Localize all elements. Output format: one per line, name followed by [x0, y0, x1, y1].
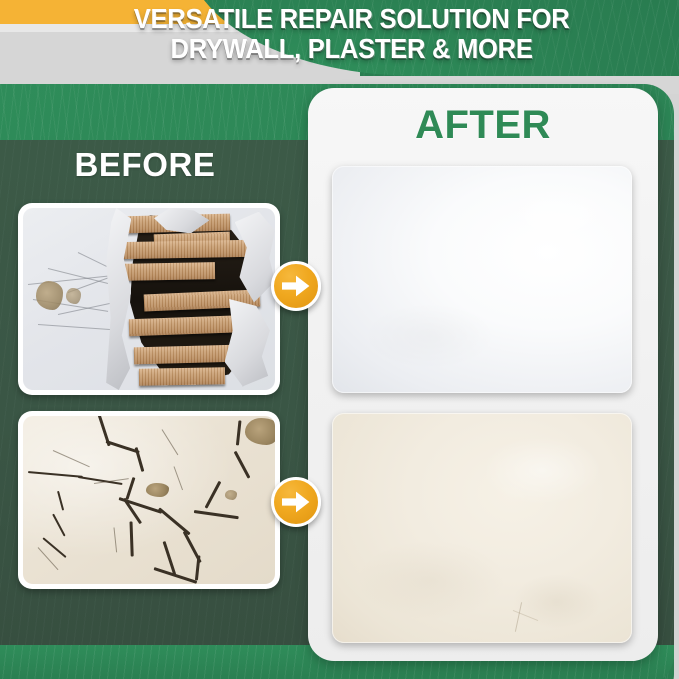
arrow-right-icon[interactable] [271, 477, 321, 527]
after-label: AFTER [308, 103, 658, 148]
lath-strip [139, 367, 225, 386]
lath-strip [121, 240, 247, 259]
after-photo-2-image [332, 413, 632, 643]
drywall-tear [225, 299, 270, 386]
after-photo-1-image [332, 166, 632, 393]
before-photo-1-image [23, 208, 275, 390]
plaster-surface [23, 416, 275, 584]
lath-strip [119, 262, 215, 281]
lath-strip [134, 345, 240, 365]
before-photo-2-frame [18, 411, 280, 589]
drywall-surface [23, 208, 275, 390]
page-title-line-1: VERSATILE REPAIR SOLUTION FOR [48, 4, 655, 34]
before-label: BEFORE [0, 146, 290, 184]
drywall-tear [106, 208, 131, 390]
page-title-line-2: DRYWALL, PLASTER & MORE [48, 34, 655, 64]
before-photo-2-image [23, 416, 275, 584]
before-photo-1-frame [18, 203, 280, 395]
arrow-right-icon[interactable] [271, 261, 321, 311]
page-title: VERSATILE REPAIR SOLUTION FOR DRYWALL, P… [24, 4, 655, 64]
promo-canvas: VERSATILE REPAIR SOLUTION FOR DRYWALL, P… [0, 0, 679, 679]
